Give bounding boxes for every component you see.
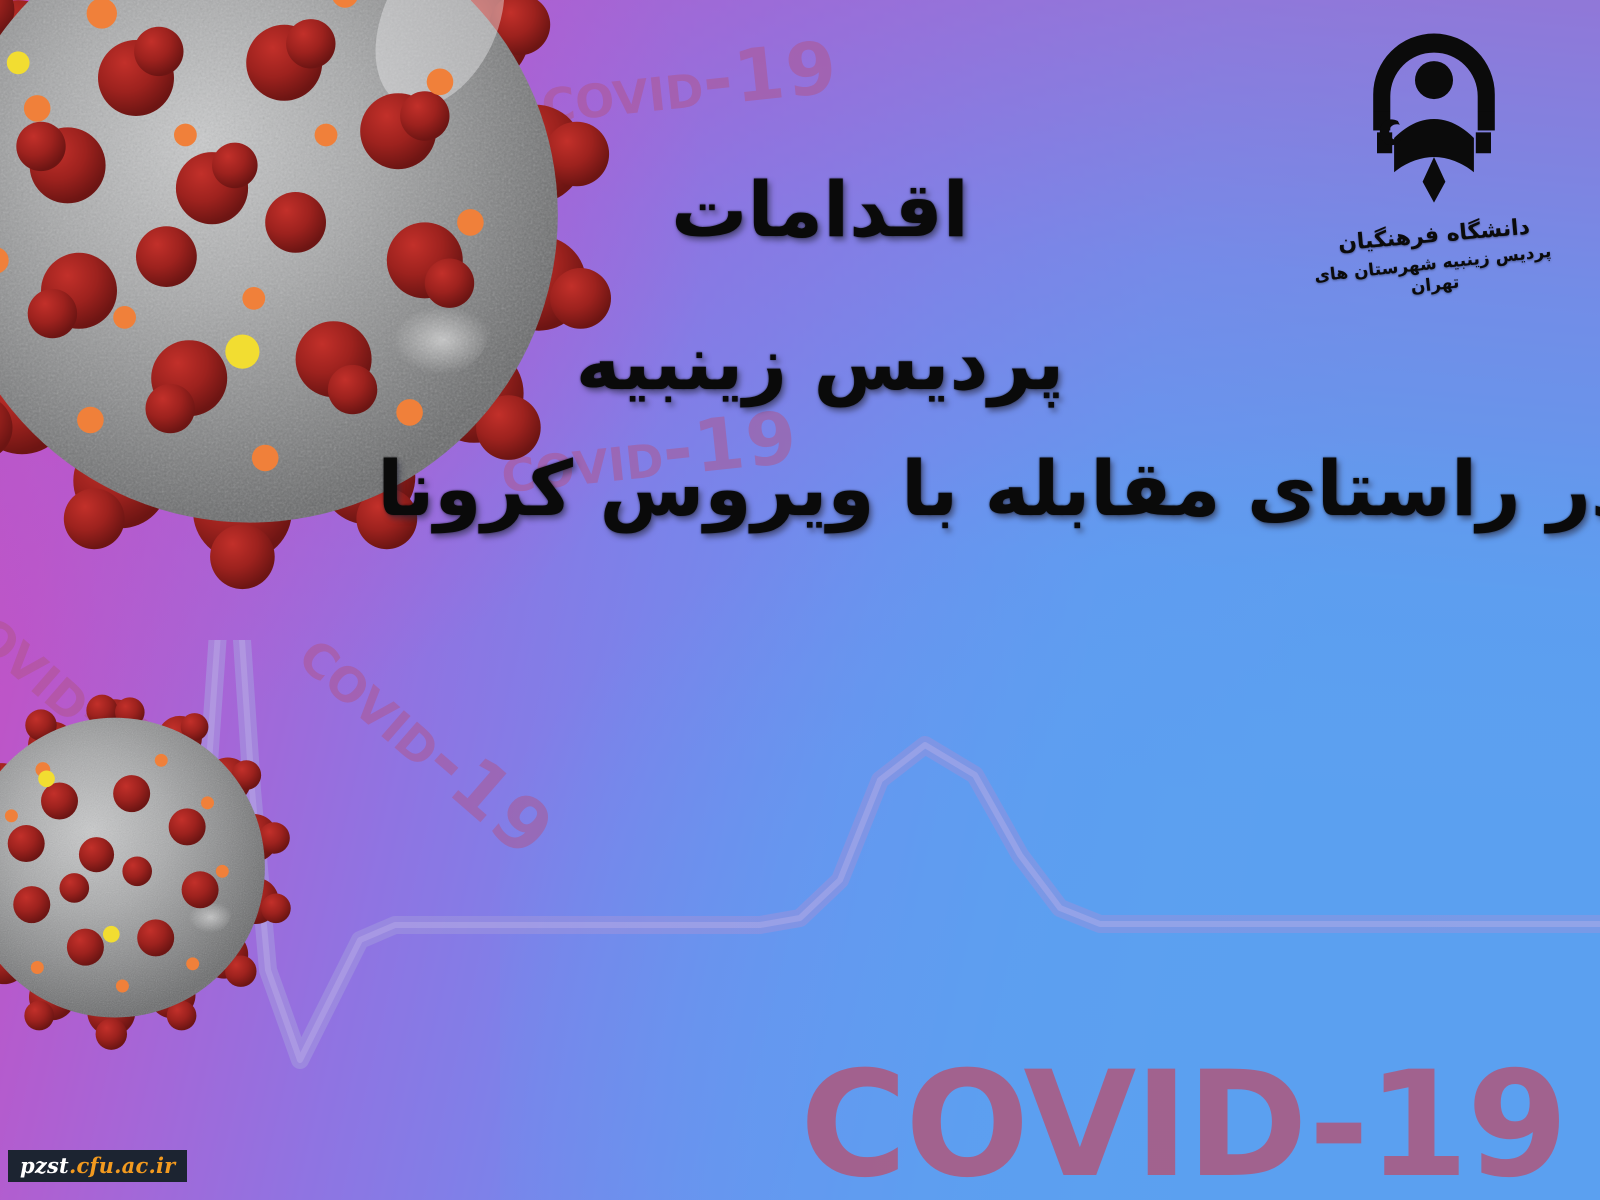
poster-heading-block: اقدامات پردیس زینبیه در راستای مقابله با… (410, 170, 1230, 530)
coronavirus-particle-icon (0, 690, 300, 1060)
heading-line-3: در راستای مقابله با ویروس کرونا (410, 449, 1600, 530)
farhangian-university-logo-icon (1339, 20, 1529, 220)
covid-poster: COVID-19 COVID-19 COVID-19 COVID-19 (0, 0, 1600, 1200)
covid-19-headline: COVID-19 (800, 1040, 1566, 1200)
page-title: اقدامات (410, 170, 1230, 251)
covid-watermark-suffix: -19 (698, 25, 842, 123)
site-url-suffix: .cfu.ac.ir (69, 1153, 175, 1178)
site-url-badge[interactable]: pzst.cfu.ac.ir (8, 1150, 187, 1182)
university-logo-block: دانشگاه فرهنگیان پردیس زینبیه شهرستان ها… (1314, 20, 1554, 296)
site-url-prefix: pzst (20, 1153, 69, 1178)
heading-line-2: پردیس زینبیه (410, 323, 1230, 404)
